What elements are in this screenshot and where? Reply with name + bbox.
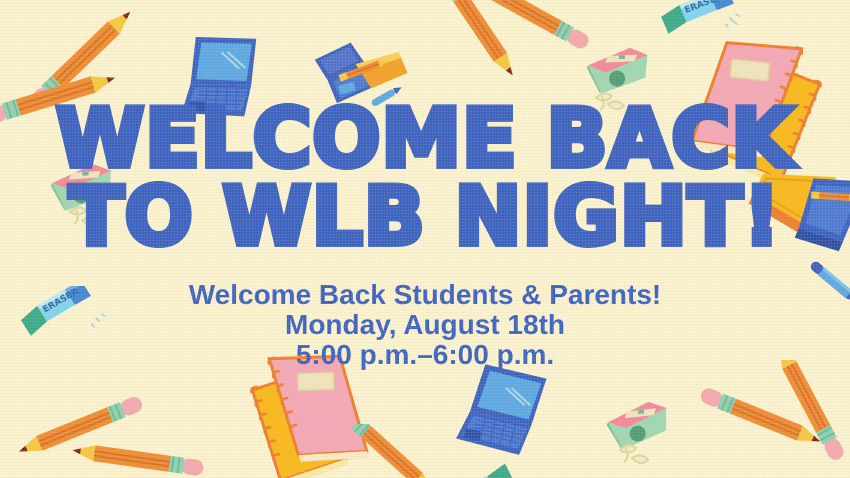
shavings-icon <box>620 445 648 463</box>
pencil-pair-bottom-right-decoration <box>692 360 850 478</box>
pencil-icon <box>772 360 846 462</box>
eraser-icon: ERASER <box>424 452 520 478</box>
subtitle-line-3: 5:00 p.m.–6:00 p.m. <box>0 340 850 370</box>
poster-text-block: WELCOME BACK TO WLB NIGHT! Welcome Back … <box>0 0 850 370</box>
headline-line-2: TO WLB NIGHT! <box>0 176 850 254</box>
eraser-bottom-center-decoration: ERASER <box>424 452 520 478</box>
poster-canvas: ERASER <box>0 0 850 478</box>
pencil-pair-bottom-left-decoration <box>8 392 208 478</box>
headline-line-1: WELCOME BACK <box>0 0 850 176</box>
pencil-icon <box>71 442 204 476</box>
subtitle-line-2: Monday, August 18th <box>0 310 850 340</box>
sharpener-bottom-right-decoration <box>598 392 688 478</box>
sharpener-icon <box>598 392 688 478</box>
